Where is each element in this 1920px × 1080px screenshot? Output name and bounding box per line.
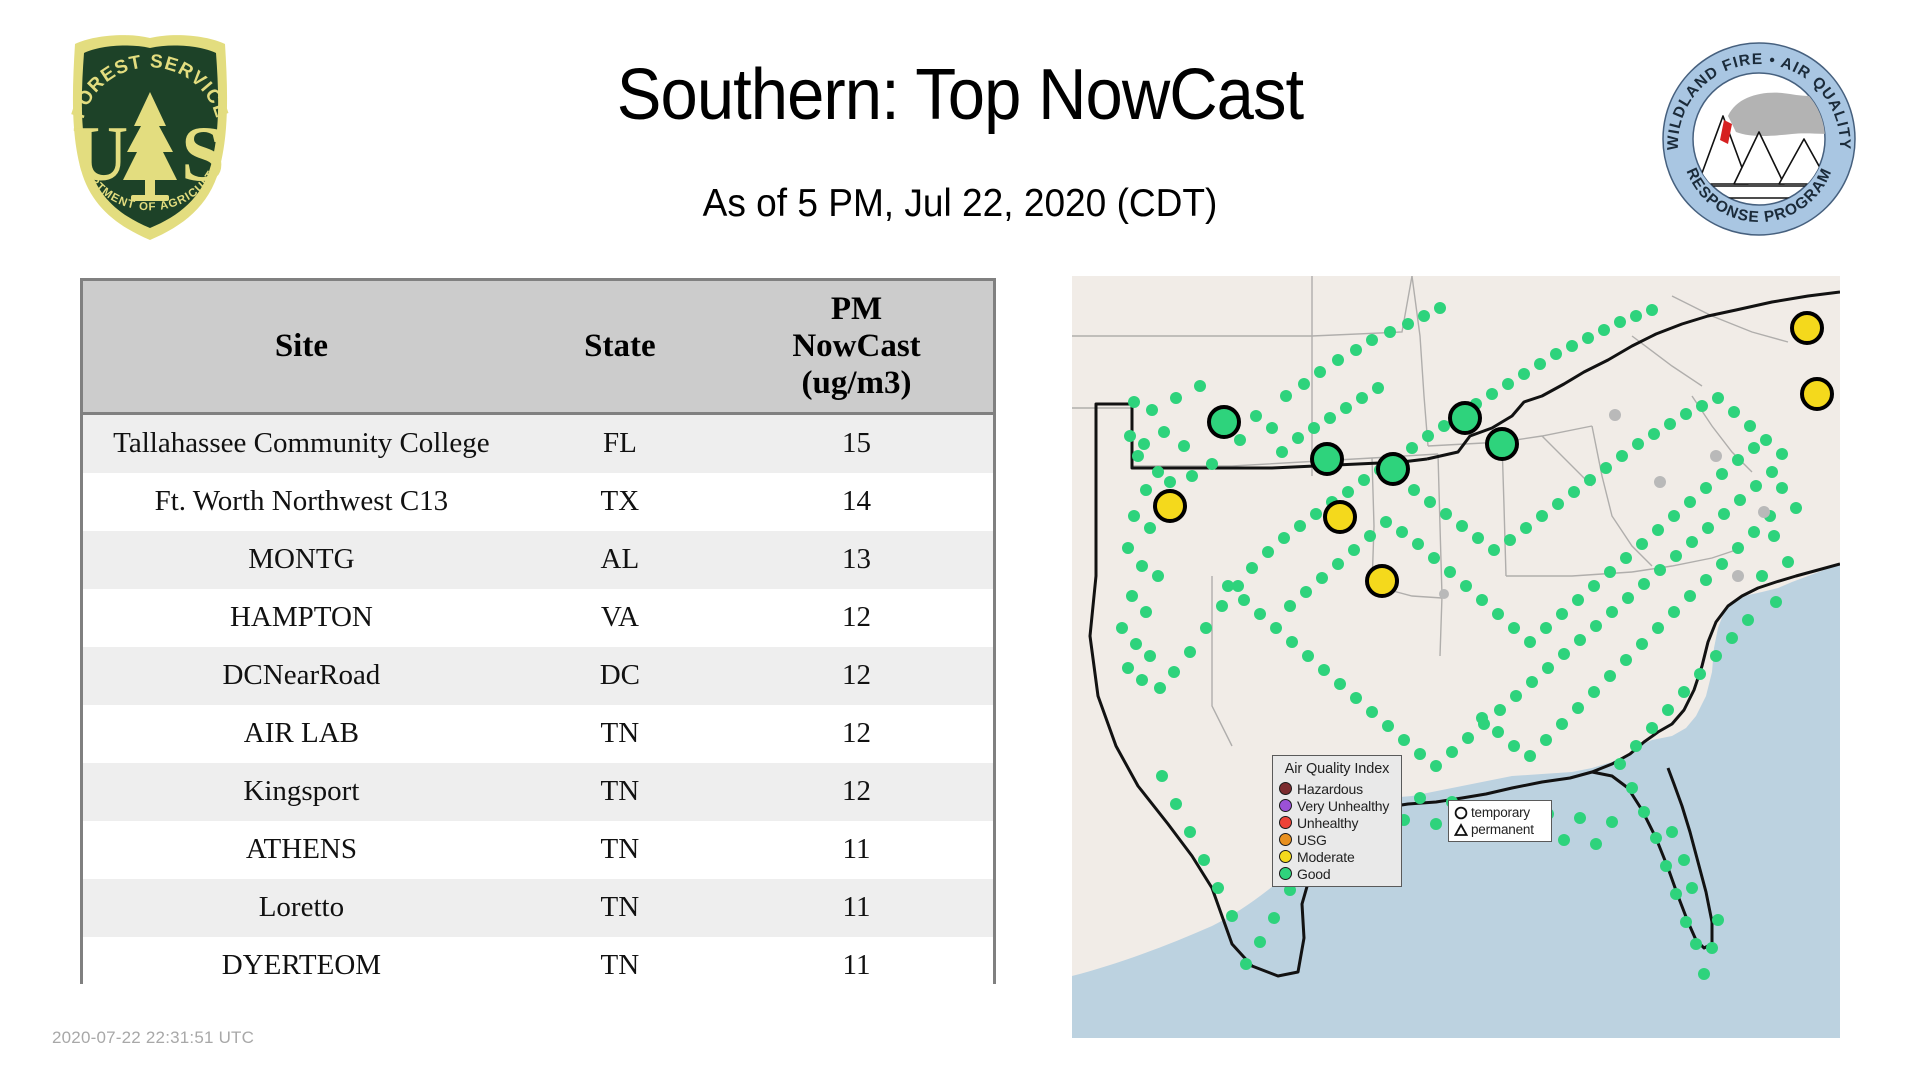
circle-icon bbox=[1454, 806, 1468, 820]
cell-site: DCNearRoad bbox=[83, 647, 520, 705]
page-subtitle: As of 5 PM, Jul 22, 2020 (CDT) bbox=[333, 182, 1587, 226]
site-marker-good[interactable] bbox=[1312, 444, 1342, 474]
table-row[interactable]: DCNearRoad DC 12 bbox=[83, 647, 993, 705]
aqi-swatch-good bbox=[1279, 867, 1292, 880]
wildland-fire-air-quality-seal-logo: WILDLAND FIRE • AIR QUALITY RESPONSE PRO… bbox=[1660, 40, 1858, 238]
aqi-legend-title: Air Quality Index bbox=[1279, 761, 1395, 777]
aqi-legend-item-very-unhealthy: Very Unhealthy bbox=[1279, 797, 1395, 814]
column-header-pm-line1: PM bbox=[724, 291, 989, 328]
site-marker-moderate[interactable] bbox=[1325, 502, 1355, 532]
cell-pm: 11 bbox=[720, 937, 993, 995]
cell-site: MONTG bbox=[83, 531, 520, 589]
cell-site: DYERTEOM bbox=[83, 937, 520, 995]
aqi-label-hazardous: Hazardous bbox=[1297, 781, 1363, 797]
site-marker-good[interactable] bbox=[1378, 454, 1408, 484]
aqi-swatch-hazardous bbox=[1279, 782, 1292, 795]
cell-pm: 14 bbox=[720, 473, 993, 531]
site-marker-moderate[interactable] bbox=[1155, 491, 1185, 521]
column-header-pm-line3: (ug/m3) bbox=[724, 365, 989, 402]
usda-forest-service-shield-logo: FOREST SERVICE DEPARTMENT OF AGRICULTURE… bbox=[55, 30, 245, 245]
cell-site: Loretto bbox=[83, 879, 520, 937]
aqi-legend-item-hazardous: Hazardous bbox=[1279, 780, 1395, 797]
aqi-label-good: Good bbox=[1297, 866, 1330, 882]
cell-state: VA bbox=[520, 589, 720, 647]
column-header-pm-line2: NowCast bbox=[724, 328, 989, 365]
cell-state: TN bbox=[520, 937, 720, 995]
cell-pm: 12 bbox=[720, 705, 993, 763]
monitor-type-legend: temporary permanent bbox=[1448, 800, 1552, 842]
aqi-label-very-unhealthy: Very Unhealthy bbox=[1297, 798, 1389, 814]
cell-pm: 11 bbox=[720, 821, 993, 879]
table-row[interactable]: Ft. Worth Northwest C13 TX 14 bbox=[83, 473, 993, 531]
site-marker-moderate[interactable] bbox=[1792, 313, 1822, 343]
cell-state: TN bbox=[520, 879, 720, 937]
triangle-icon bbox=[1454, 823, 1468, 837]
cell-state: TN bbox=[520, 821, 720, 879]
aqi-swatch-very-unhealthy bbox=[1279, 799, 1292, 812]
legend-label-temporary: temporary bbox=[1471, 805, 1530, 820]
cell-site: Tallahassee Community College bbox=[83, 413, 520, 473]
shield-letter-s: S bbox=[181, 110, 224, 197]
cell-state: TN bbox=[520, 705, 720, 763]
column-header-state: State bbox=[520, 281, 720, 413]
column-header-site: Site bbox=[83, 281, 520, 413]
aqi-label-moderate: Moderate bbox=[1297, 849, 1355, 865]
cell-state: AL bbox=[520, 531, 720, 589]
table-row[interactable]: DYERTEOM TN 11 bbox=[83, 937, 993, 995]
table-body: Tallahassee Community College FL 15 Ft. … bbox=[83, 413, 993, 995]
cell-site: Ft. Worth Northwest C13 bbox=[83, 473, 520, 531]
cell-state: DC bbox=[520, 647, 720, 705]
aqi-legend-item-unhealthy: Unhealthy bbox=[1279, 814, 1395, 831]
aqi-swatch-moderate bbox=[1279, 850, 1292, 863]
cell-pm: 15 bbox=[720, 413, 993, 473]
table-row[interactable]: AIR LAB TN 12 bbox=[83, 705, 993, 763]
cell-pm: 12 bbox=[720, 647, 993, 705]
table-header-row: Site State PM NowCast (ug/m3) bbox=[83, 281, 993, 413]
table-row[interactable]: Loretto TN 11 bbox=[83, 879, 993, 937]
cell-pm: 11 bbox=[720, 879, 993, 937]
cell-pm: 13 bbox=[720, 531, 993, 589]
cell-site: Kingsport bbox=[83, 763, 520, 821]
cell-pm: 12 bbox=[720, 589, 993, 647]
table-row[interactable]: ATHENS TN 11 bbox=[83, 821, 993, 879]
cell-site: ATHENS bbox=[83, 821, 520, 879]
site-marker-good[interactable] bbox=[1487, 429, 1517, 459]
cell-state: TN bbox=[520, 763, 720, 821]
table-row[interactable]: Tallahassee Community College FL 15 bbox=[83, 413, 993, 473]
cell-state: TX bbox=[520, 473, 720, 531]
table-row[interactable]: MONTG AL 13 bbox=[83, 531, 993, 589]
table-row[interactable]: Kingsport TN 12 bbox=[83, 763, 993, 821]
cell-site: HAMPTON bbox=[83, 589, 520, 647]
top-nowcast-table: Site State PM NowCast (ug/m3) Tallahasse… bbox=[80, 278, 996, 984]
aqi-label-unhealthy: Unhealthy bbox=[1297, 815, 1358, 831]
column-header-pm-nowcast: PM NowCast (ug/m3) bbox=[720, 281, 993, 413]
cell-state: FL bbox=[520, 413, 720, 473]
legend-item-temporary: temporary bbox=[1454, 804, 1546, 821]
air-quality-monitor-map[interactable] bbox=[1072, 276, 1840, 1038]
cell-pm: 12 bbox=[720, 763, 993, 821]
aqi-legend-item-moderate: Moderate bbox=[1279, 848, 1395, 865]
site-marker-good[interactable] bbox=[1209, 407, 1239, 437]
aqi-legend-item-good: Good bbox=[1279, 865, 1395, 882]
shield-letter-u: U bbox=[72, 110, 128, 197]
aqi-swatch-usg bbox=[1279, 833, 1292, 846]
table-row[interactable]: HAMPTON VA 12 bbox=[83, 589, 993, 647]
aqi-swatch-unhealthy bbox=[1279, 816, 1292, 829]
aqi-legend-item-usg: USG bbox=[1279, 831, 1395, 848]
slide-canvas: FOREST SERVICE DEPARTMENT OF AGRICULTURE… bbox=[0, 0, 1920, 1080]
legend-item-permanent: permanent bbox=[1454, 821, 1546, 838]
page-title: Southern: Top NowCast bbox=[346, 58, 1574, 134]
aqi-legend: Air Quality Index Hazardous Very Unhealt… bbox=[1272, 755, 1402, 887]
site-marker-moderate[interactable] bbox=[1367, 566, 1397, 596]
site-marker-good[interactable] bbox=[1450, 403, 1480, 433]
aqi-label-usg: USG bbox=[1297, 832, 1327, 848]
generation-timestamp: 2020-07-22 22:31:51 UTC bbox=[52, 1028, 254, 1048]
legend-label-permanent: permanent bbox=[1471, 822, 1534, 837]
cell-site: AIR LAB bbox=[83, 705, 520, 763]
site-marker-moderate[interactable] bbox=[1802, 379, 1832, 409]
